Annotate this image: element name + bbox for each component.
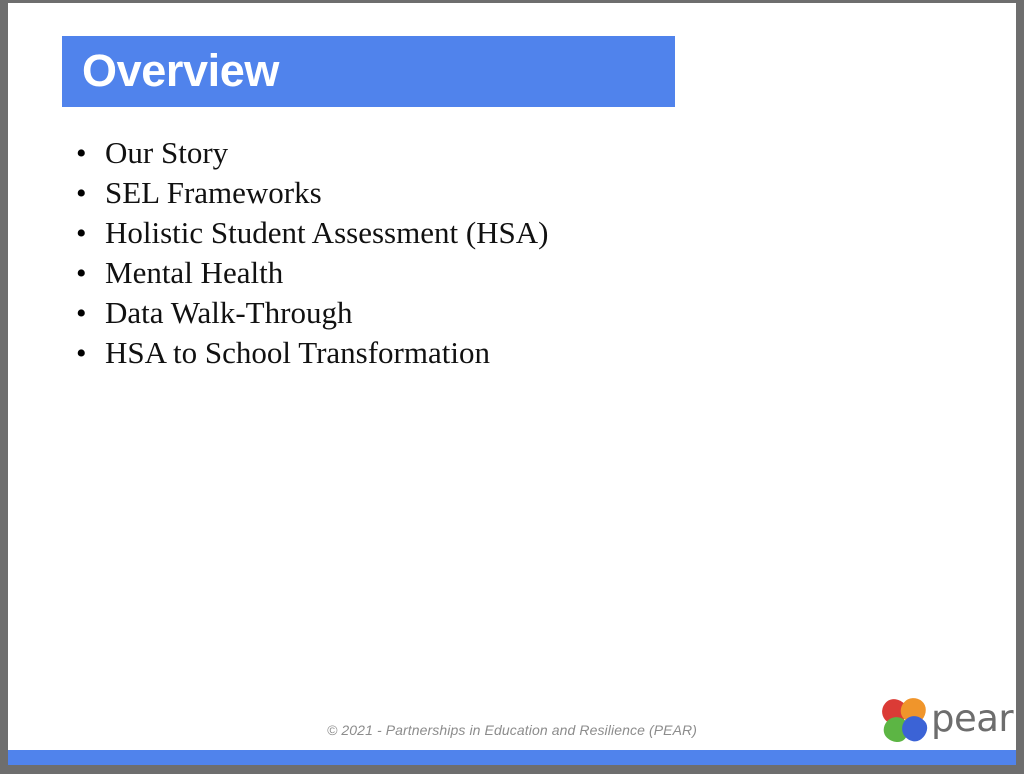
title-banner: Overview bbox=[62, 36, 675, 107]
bullet-point-icon: • bbox=[70, 134, 105, 174]
list-item: • Holistic Student Assessment (HSA) bbox=[70, 213, 940, 253]
list-item: • HSA to School Transformation bbox=[70, 333, 940, 373]
bullet-point-icon: • bbox=[70, 294, 105, 334]
bottom-accent-bar bbox=[8, 750, 1016, 765]
list-item: • Data Walk-Through bbox=[70, 293, 940, 333]
bullet-point-icon: • bbox=[70, 254, 105, 294]
list-item-label: SEL Frameworks bbox=[105, 173, 940, 213]
pear-logo: pear bbox=[882, 695, 1016, 745]
footer-copyright-text: © 2021 - Partnerships in Education and R… bbox=[8, 722, 1016, 738]
list-item-label: HSA to School Transformation bbox=[105, 333, 940, 373]
pear-wordmark: pear bbox=[931, 700, 1013, 741]
list-item-label: Our Story bbox=[105, 133, 940, 173]
bullet-list: • Our Story • SEL Frameworks • Holistic … bbox=[70, 133, 940, 373]
bullet-point-icon: • bbox=[70, 334, 105, 374]
list-item: • Our Story bbox=[70, 133, 940, 173]
slide-frame: Overview • Our Story • SEL Frameworks • … bbox=[0, 0, 1024, 774]
pear-flower-icon bbox=[882, 698, 928, 742]
bullet-point-icon: • bbox=[70, 174, 105, 214]
page-title: Overview bbox=[82, 48, 279, 96]
list-item-label: Data Walk-Through bbox=[105, 293, 940, 333]
list-item: • Mental Health bbox=[70, 253, 940, 293]
list-item-label: Holistic Student Assessment (HSA) bbox=[105, 213, 940, 253]
list-item: • SEL Frameworks bbox=[70, 173, 940, 213]
list-item-label: Mental Health bbox=[105, 253, 940, 293]
slide-canvas: Overview • Our Story • SEL Frameworks • … bbox=[8, 3, 1016, 765]
bullet-point-icon: • bbox=[70, 214, 105, 254]
